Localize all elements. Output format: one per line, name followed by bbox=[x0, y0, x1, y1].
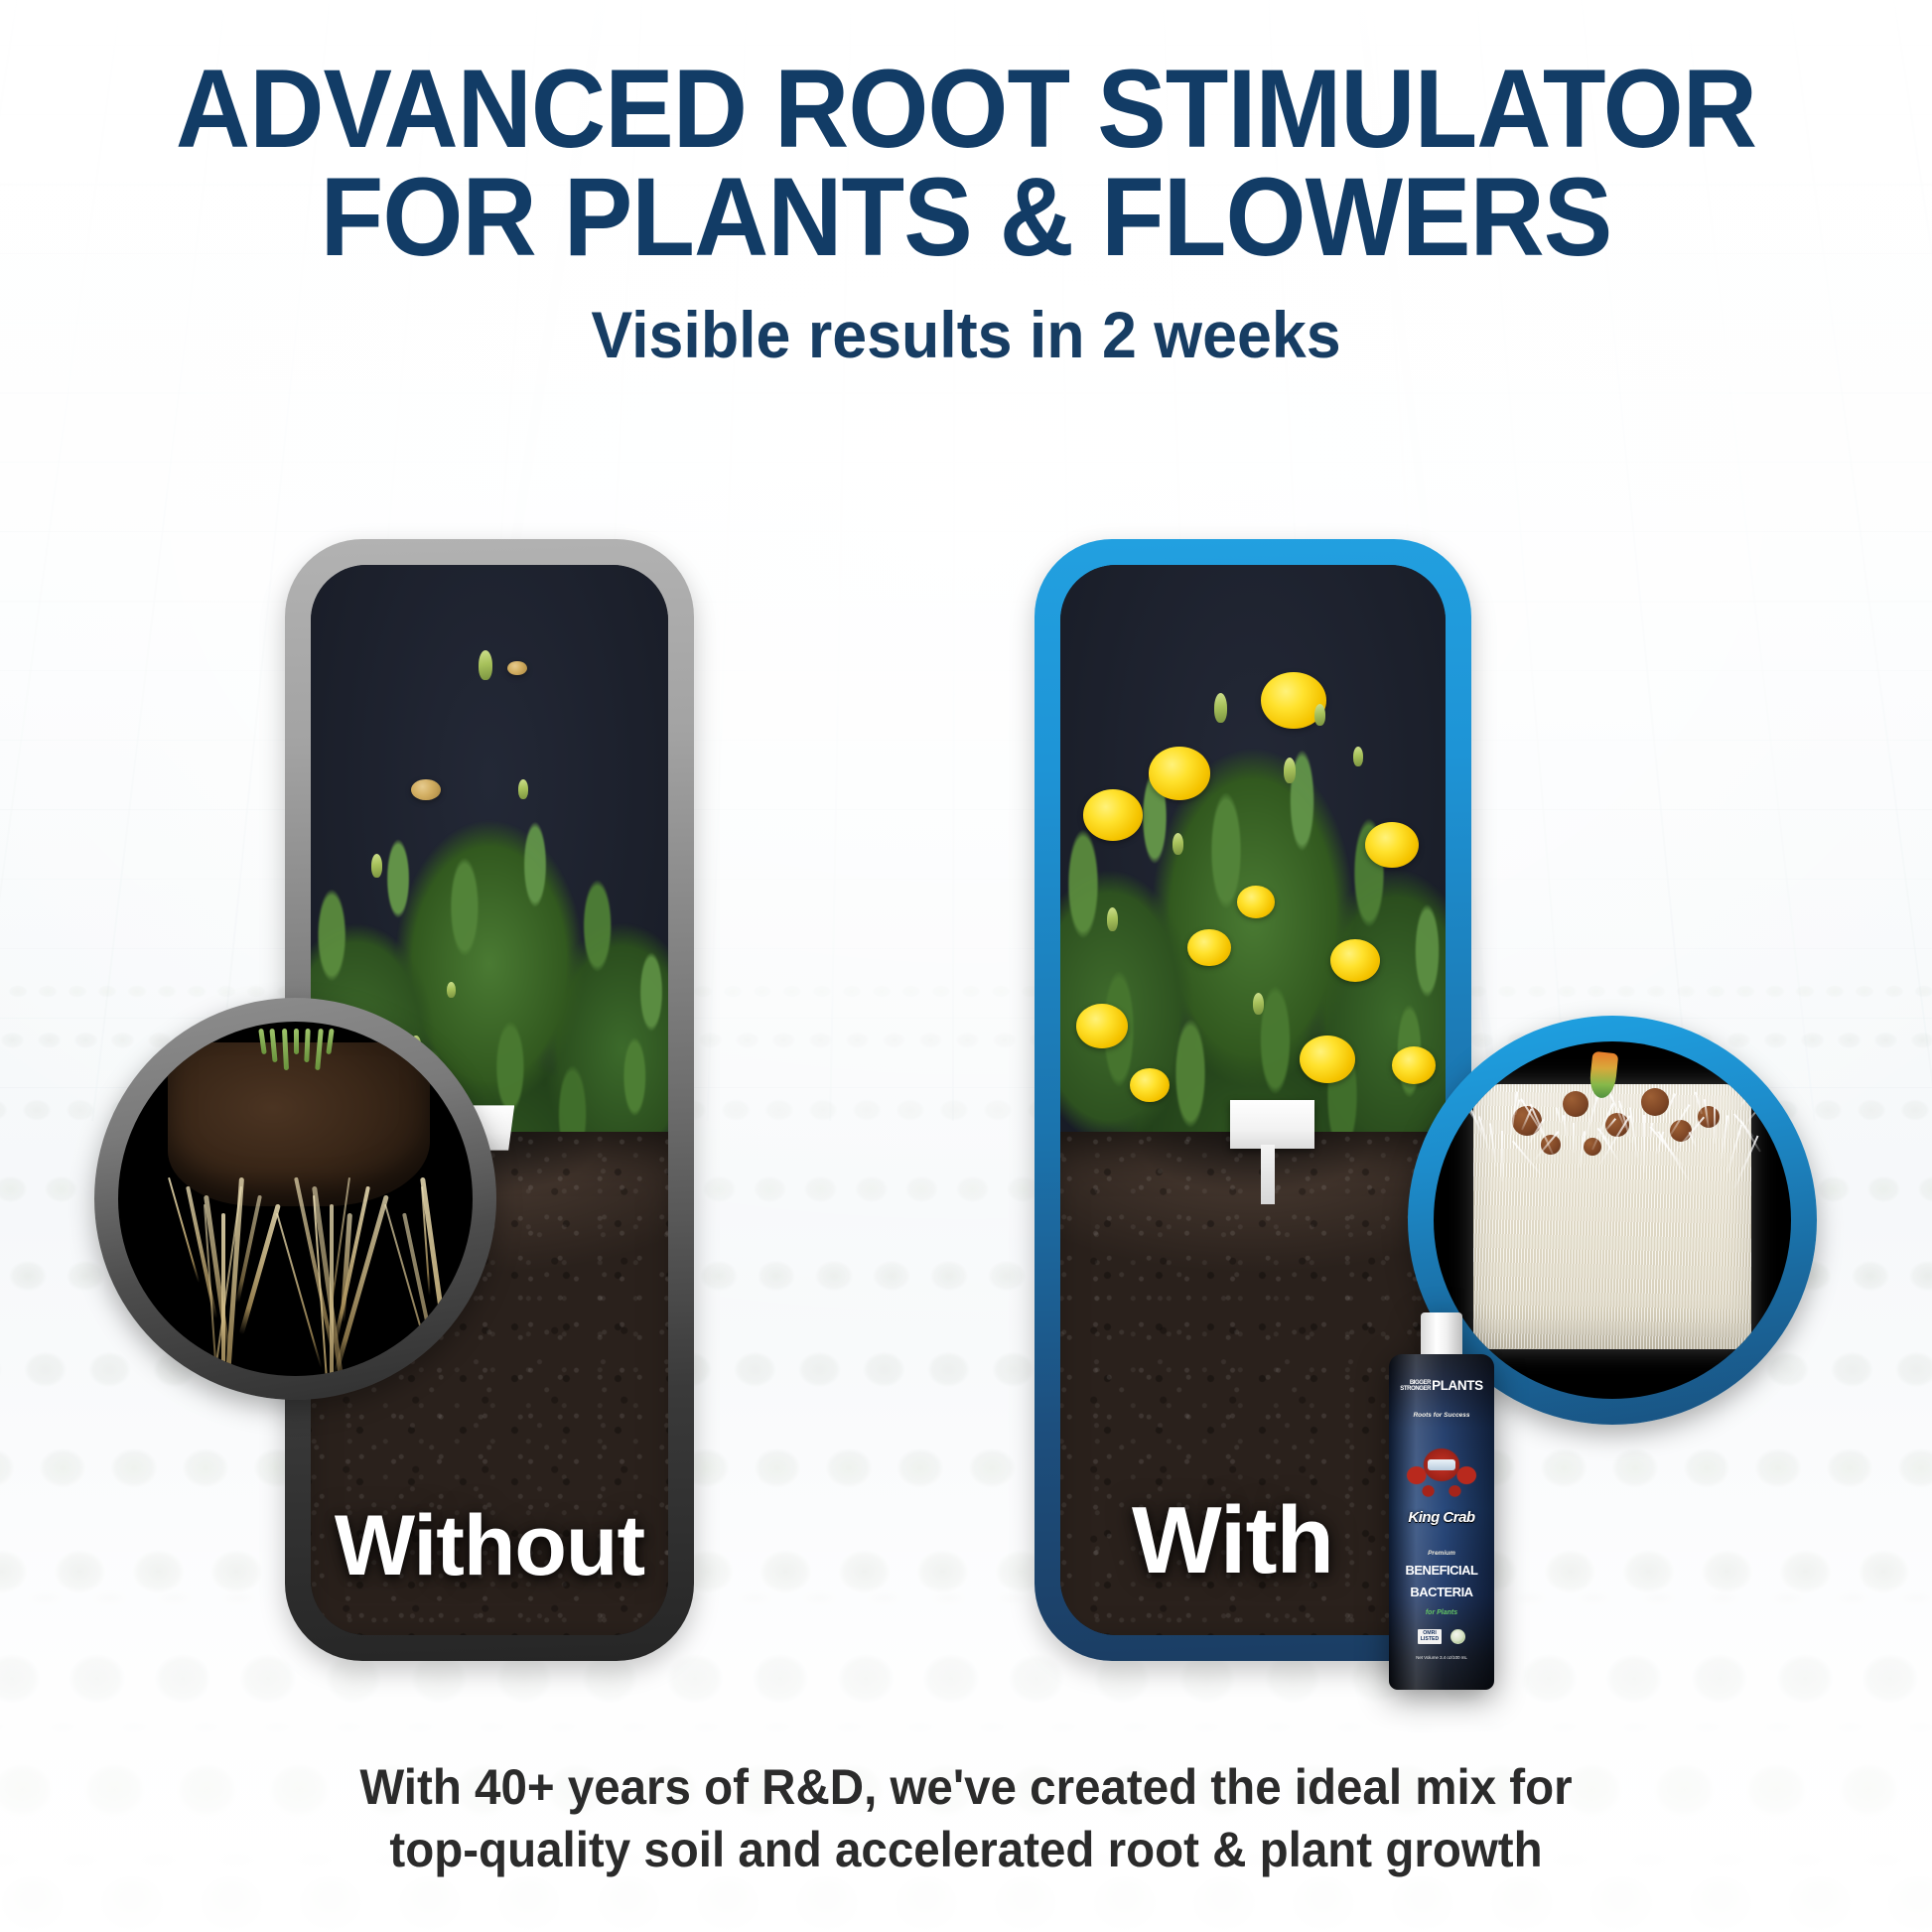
clay-pebble bbox=[1641, 1088, 1669, 1116]
flower-bud bbox=[1284, 758, 1296, 783]
root-hair bbox=[1501, 1131, 1503, 1181]
flower-bud bbox=[1314, 704, 1325, 726]
certification-seals: OMRI LISTED bbox=[1389, 1629, 1494, 1644]
flower-bud bbox=[1107, 907, 1118, 931]
crab-logo-icon bbox=[1400, 1425, 1484, 1512]
marigold-bloom bbox=[1365, 822, 1419, 868]
root-hair bbox=[1714, 1107, 1716, 1144]
flower-bud bbox=[447, 982, 456, 998]
flower-bud bbox=[1353, 747, 1363, 766]
label-brand-name: King Crab bbox=[1389, 1510, 1494, 1525]
flower-bud bbox=[1173, 833, 1183, 855]
root-hair bbox=[1643, 1115, 1645, 1173]
flower-bud bbox=[1214, 693, 1227, 723]
caption-with: With bbox=[1060, 1486, 1446, 1595]
label-plants-tagline: BIGGERSTRONGERPLANTS bbox=[1389, 1379, 1494, 1393]
label-for-plants: for Plants bbox=[1389, 1609, 1494, 1616]
bottle-cap bbox=[1421, 1312, 1462, 1358]
page-subtitle: Visible results in 2 weeks bbox=[49, 297, 1884, 372]
label-bigger-stronger: BIGGERSTRONGER bbox=[1400, 1381, 1431, 1392]
label-net-volume: Net Volume 3.4 oz/100 mL bbox=[1389, 1656, 1494, 1661]
organic-seal-icon bbox=[1450, 1629, 1465, 1644]
plant-tag-stem bbox=[1261, 1145, 1275, 1203]
label-bacteria: BACTERIA bbox=[1389, 1586, 1494, 1598]
label-roots-for-success: Roots for Success bbox=[1389, 1413, 1494, 1420]
marigold-bloom bbox=[1130, 1068, 1170, 1102]
marigold-bloom bbox=[1083, 789, 1143, 841]
page-title: ADVANCED ROOT STIMULATOR FOR PLANTS & FL… bbox=[68, 0, 1864, 271]
caption-without: Without bbox=[311, 1497, 668, 1595]
bottle-label: BIGGERSTRONGERPLANTS Roots for Success K… bbox=[1389, 1354, 1494, 1690]
clay-pebble bbox=[1563, 1091, 1588, 1117]
flower-bud bbox=[518, 779, 528, 799]
marigold-bloom bbox=[1149, 747, 1210, 799]
spent-bloom bbox=[411, 779, 441, 801]
marigold-bloom bbox=[1392, 1046, 1436, 1084]
sparse-root-mass bbox=[168, 1042, 430, 1205]
product-bottle-king-crab[interactable]: BIGGERSTRONGERPLANTS Roots for Success K… bbox=[1389, 1312, 1494, 1690]
plant-tag bbox=[1230, 1100, 1314, 1149]
crown-stem bbox=[294, 1029, 299, 1054]
flower-bud bbox=[1253, 993, 1264, 1015]
marigold-bloom bbox=[1330, 939, 1380, 982]
marigold-bloom bbox=[1300, 1035, 1355, 1083]
photo-plant-with bbox=[1060, 565, 1446, 1635]
root-inset-without bbox=[94, 998, 496, 1400]
label-plants-word: PLANTS bbox=[1432, 1378, 1483, 1393]
marigold-bloom bbox=[1187, 929, 1231, 967]
root-photo-without bbox=[118, 1022, 473, 1376]
label-premium: Premium bbox=[1389, 1551, 1494, 1558]
flower-bud bbox=[371, 854, 382, 878]
flower-bud bbox=[479, 650, 492, 680]
label-beneficial: BENEFICIAL bbox=[1389, 1564, 1494, 1577]
root-hair bbox=[1573, 1123, 1575, 1153]
header: ADVANCED ROOT STIMULATOR FOR PLANTS & FL… bbox=[0, 0, 1932, 372]
marigold-bloom bbox=[1076, 1004, 1128, 1048]
panel-photo-frame-with: With bbox=[1060, 565, 1446, 1635]
omri-seal-icon: OMRI LISTED bbox=[1418, 1629, 1442, 1644]
footer-caption: With 40+ years of R&D, we've created the… bbox=[49, 1756, 1884, 1880]
